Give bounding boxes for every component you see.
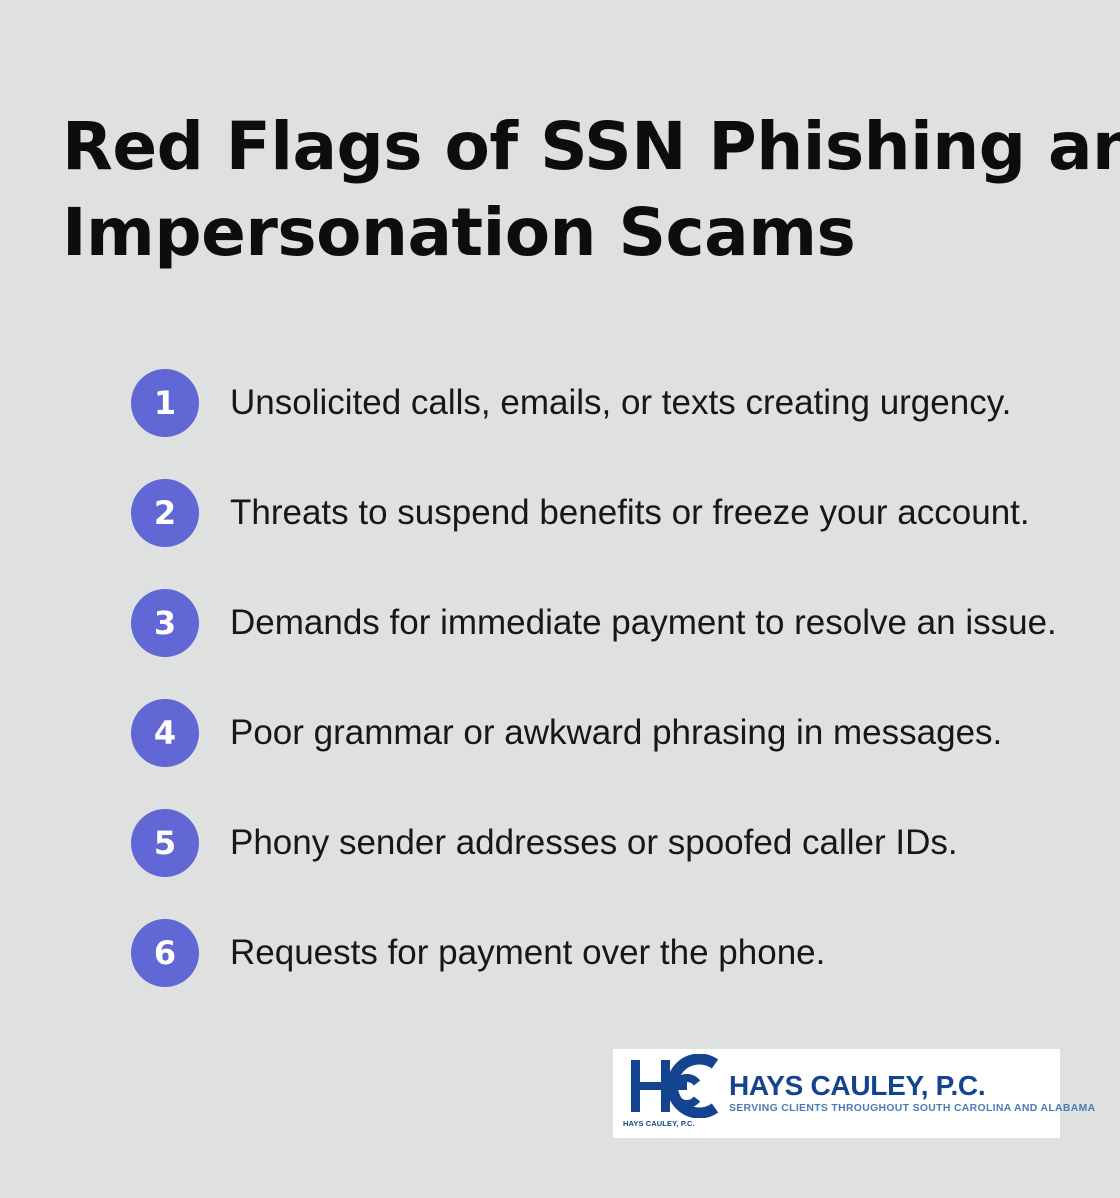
brand-wordmark: HAYS CAULEY, P.C. [729, 1071, 1095, 1101]
list-item-number-badge: 2 [131, 479, 199, 547]
page-title-line-2: Impersonation Scams [62, 190, 1042, 276]
list-item-label: Unsolicited calls, emails, or texts crea… [230, 382, 1011, 424]
hc-monogram-icon: HAYS CAULEY, P.C. [623, 1054, 723, 1134]
brand-logo-card: HAYS CAULEY, P.C. HAYS CAULEY, P.C. SERV… [613, 1049, 1060, 1138]
list-item-number-badge: 6 [131, 919, 199, 987]
list-item-label: Phony sender addresses or spoofed caller… [230, 822, 958, 864]
list-item: 3 Demands for immediate payment to resol… [131, 589, 1091, 657]
list-item-label: Demands for immediate payment to resolve… [230, 602, 1057, 644]
list-item-number-badge: 4 [131, 699, 199, 767]
list-item: 5 Phony sender addresses or spoofed call… [131, 809, 1091, 877]
list-item-label: Threats to suspend benefits or freeze yo… [230, 492, 1030, 534]
list-item-label: Requests for payment over the phone. [230, 932, 825, 974]
list-item-number-badge: 1 [131, 369, 199, 437]
list-item: 6 Requests for payment over the phone. [131, 919, 1091, 987]
list-item-number-badge: 5 [131, 809, 199, 877]
brand-tagline: SERVING CLIENTS THROUGHOUT SOUTH CAROLIN… [729, 1102, 1095, 1116]
list-item: 4 Poor grammar or awkward phrasing in me… [131, 699, 1091, 767]
brand-text-block: HAYS CAULEY, P.C. SERVING CLIENTS THROUG… [729, 1071, 1095, 1116]
list-item: 1 Unsolicited calls, emails, or texts cr… [131, 369, 1091, 437]
page-title: Red Flags of SSN Phishing and Impersonat… [62, 104, 1042, 276]
list-item-label: Poor grammar or awkward phrasing in mess… [230, 712, 1002, 754]
infographic-canvas: Red Flags of SSN Phishing and Impersonat… [0, 0, 1120, 1198]
page-title-line-1: Red Flags of SSN Phishing and [62, 104, 1042, 190]
list-item-number-badge: 3 [131, 589, 199, 657]
monogram-caption: HAYS CAULEY, P.C. [623, 1119, 695, 1128]
red-flags-list: 1 Unsolicited calls, emails, or texts cr… [131, 369, 1091, 1029]
list-item: 2 Threats to suspend benefits or freeze … [131, 479, 1091, 547]
